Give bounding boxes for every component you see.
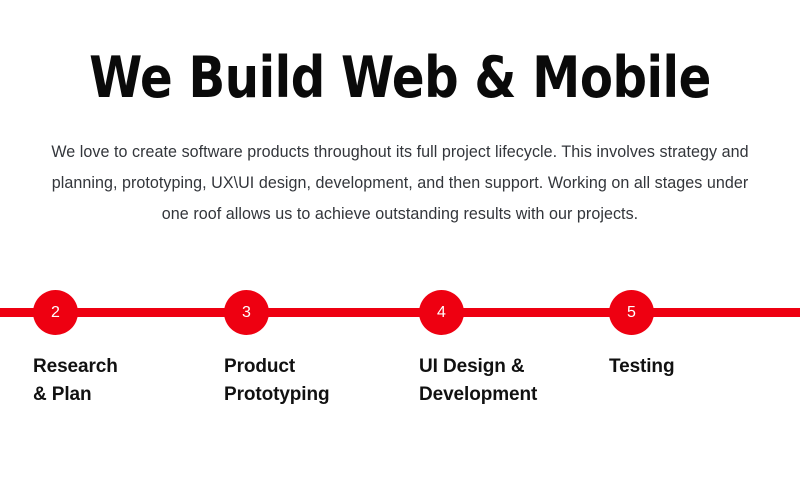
timeline-rail bbox=[0, 308, 800, 317]
timeline-node-number: 5 bbox=[627, 305, 636, 321]
timeline-node-circle[interactable]: 3 bbox=[224, 290, 269, 335]
timeline-node-circle[interactable]: 4 bbox=[419, 290, 464, 335]
timeline-node-circle[interactable]: 2 bbox=[33, 290, 78, 335]
timeline-node-ui-design-development[interactable]: 4 UI Design & Development bbox=[419, 290, 464, 335]
timeline-node-number: 4 bbox=[437, 305, 446, 321]
timeline-node-label: Research & Plan bbox=[33, 353, 223, 409]
timeline-node-testing[interactable]: 5 Testing bbox=[609, 290, 654, 335]
timeline-node-label: Testing bbox=[609, 353, 799, 381]
timeline-node-number: 3 bbox=[242, 305, 251, 321]
process-timeline: 2 Research & Plan 3 Product Prototyping … bbox=[0, 0, 800, 480]
timeline-node-number: 2 bbox=[51, 305, 60, 321]
timeline-node-product-prototyping[interactable]: 3 Product Prototyping bbox=[224, 290, 269, 335]
page-root: We Build Web & Mobile We love to create … bbox=[0, 0, 800, 480]
timeline-node-circle[interactable]: 5 bbox=[609, 290, 654, 335]
timeline-node-research-plan[interactable]: 2 Research & Plan bbox=[33, 290, 78, 335]
timeline-node-label: UI Design & Development bbox=[419, 353, 609, 409]
timeline-node-label: Product Prototyping bbox=[224, 353, 414, 409]
